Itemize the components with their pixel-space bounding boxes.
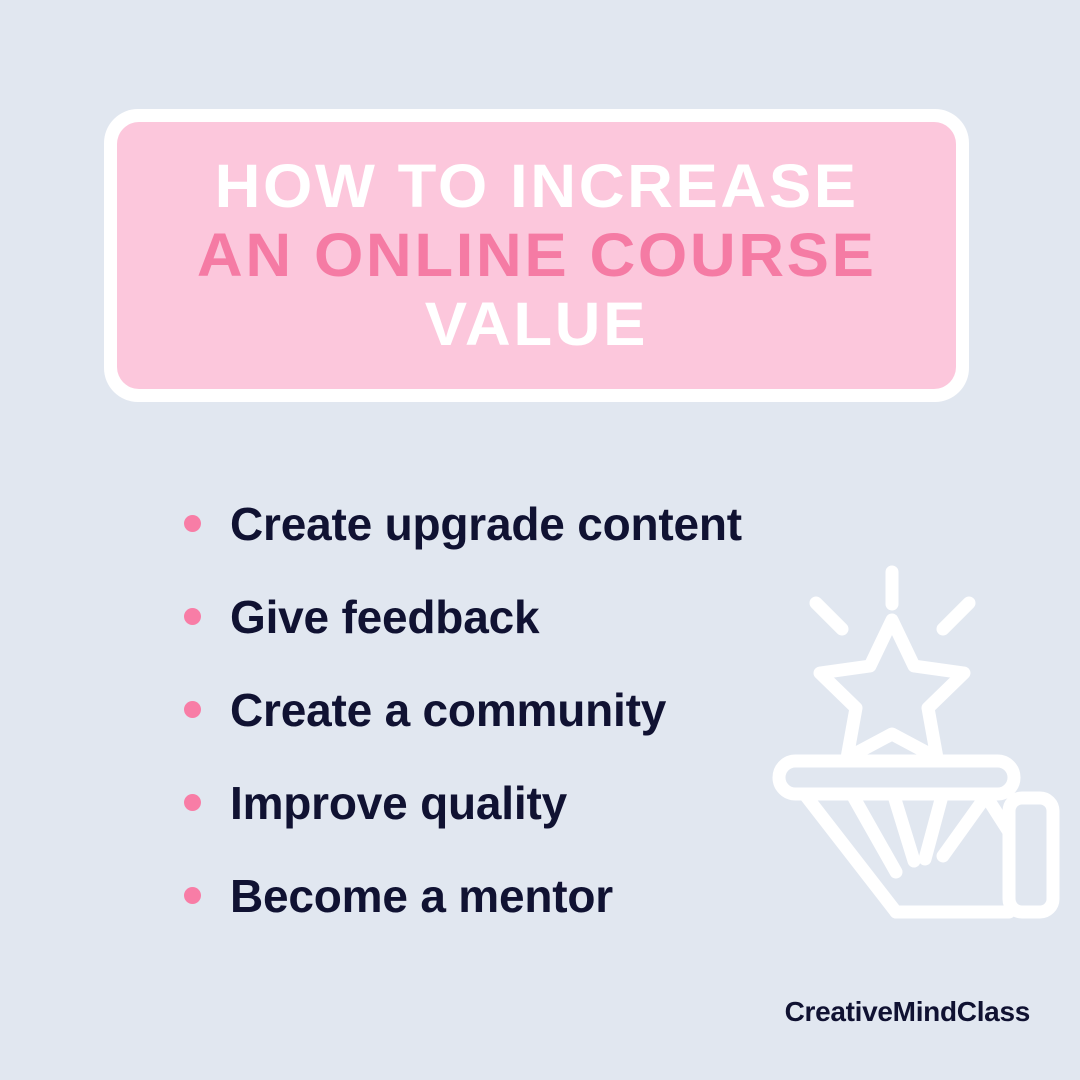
list-item: Create upgrade content (184, 477, 944, 570)
brand-logo-text: CreativeMindClass (785, 996, 1030, 1028)
sparkle-ray-right-icon (943, 603, 969, 629)
bullet-dot-icon (184, 515, 201, 532)
title-line-3: VALUE (425, 290, 648, 359)
list-item: Create a community (184, 663, 944, 756)
bullet-dot-icon (184, 608, 201, 625)
gem-right-block-icon (1009, 798, 1053, 912)
title-card-frame: HOW TO INCREASE AN ONLINE COURSE VALUE (104, 109, 969, 402)
list-item-label: Give feedback (230, 591, 539, 643)
list-item-label: Improve quality (230, 777, 567, 829)
list-item-label: Create upgrade content (230, 498, 742, 550)
bullet-dot-icon (184, 887, 201, 904)
list-item-label: Create a community (230, 684, 666, 736)
list-item-label: Become a mentor (230, 870, 613, 922)
gem-facet-far-right-icon (986, 796, 1009, 832)
benefits-list: Create upgrade content Give feedback Cre… (184, 477, 944, 942)
poster-canvas: HOW TO INCREASE AN ONLINE COURSE VALUE C… (0, 0, 1080, 1080)
list-item: Improve quality (184, 756, 944, 849)
list-item: Become a mentor (184, 849, 944, 942)
title-line-1: HOW TO INCREASE (214, 152, 858, 221)
bullet-dot-icon (184, 701, 201, 718)
title-line-2: AN ONLINE COURSE (197, 221, 877, 290)
gem-facet-right-icon (943, 796, 986, 856)
list-item: Give feedback (184, 570, 944, 663)
bullet-dot-icon (184, 794, 201, 811)
title-card: HOW TO INCREASE AN ONLINE COURSE VALUE (117, 122, 956, 389)
